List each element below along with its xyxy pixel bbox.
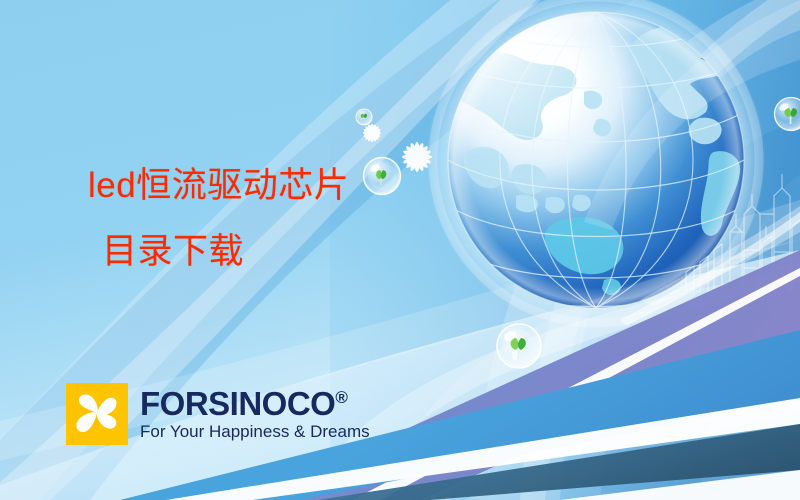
headline-block: led恒流驱动芯片 目录下载 [88,166,349,272]
logo-wordmark: FORSINOCO® [140,388,370,420]
four-petal-pinwheel-icon [66,383,128,445]
logo-mark [66,383,128,445]
promo-banner: led恒流驱动芯片 目录下载 FORSINOCO® For Your Happi… [0,0,800,500]
registered-trademark-symbol: ® [335,388,348,407]
company-logo[interactable]: FORSINOCO® For Your Happiness & Dreams [66,383,370,445]
headline-line-1: led恒流驱动芯片 [88,166,349,206]
logo-wordmark-text: FORSINOCO [140,385,335,422]
logo-tagline: For Your Happiness & Dreams [140,422,370,441]
headline-line-2: 目录下载 [102,232,349,272]
logo-text-lockup: FORSINOCO® For Your Happiness & Dreams [140,388,370,441]
